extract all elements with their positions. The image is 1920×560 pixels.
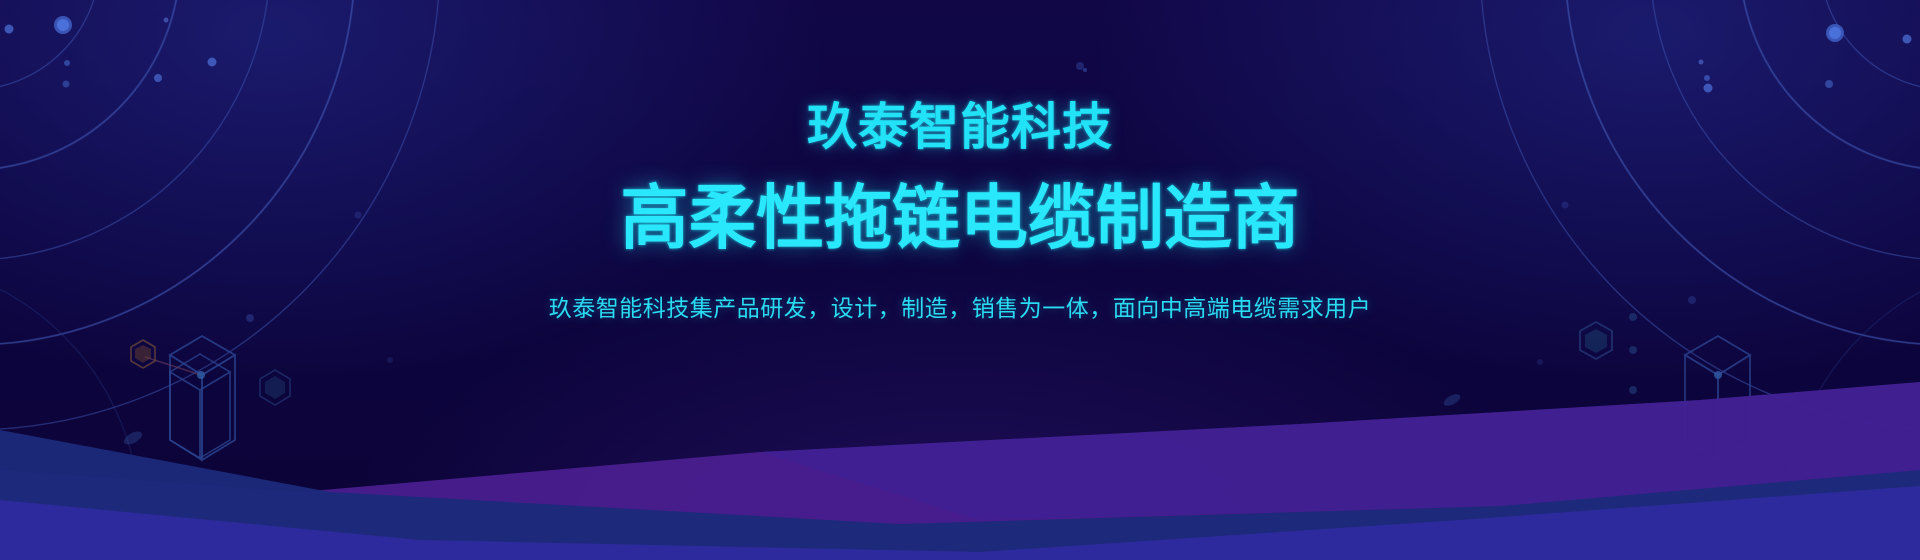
brand-line: 玖泰智能科技 xyxy=(807,97,1113,157)
hero-banner: 玖泰智能科技 高柔性拖链电缆制造商 玖泰智能科技集产品研发，设计，制造，销售为一… xyxy=(0,0,1920,560)
subtitle: 玖泰智能科技集产品研发，设计，制造，销售为一体，面向中高端电缆需求用户 xyxy=(549,291,1372,325)
hero-text-block: 玖泰智能科技 高柔性拖链电缆制造商 玖泰智能科技集产品研发，设计，制造，销售为一… xyxy=(0,0,1920,560)
page-title: 高柔性拖链电缆制造商 xyxy=(621,177,1300,259)
